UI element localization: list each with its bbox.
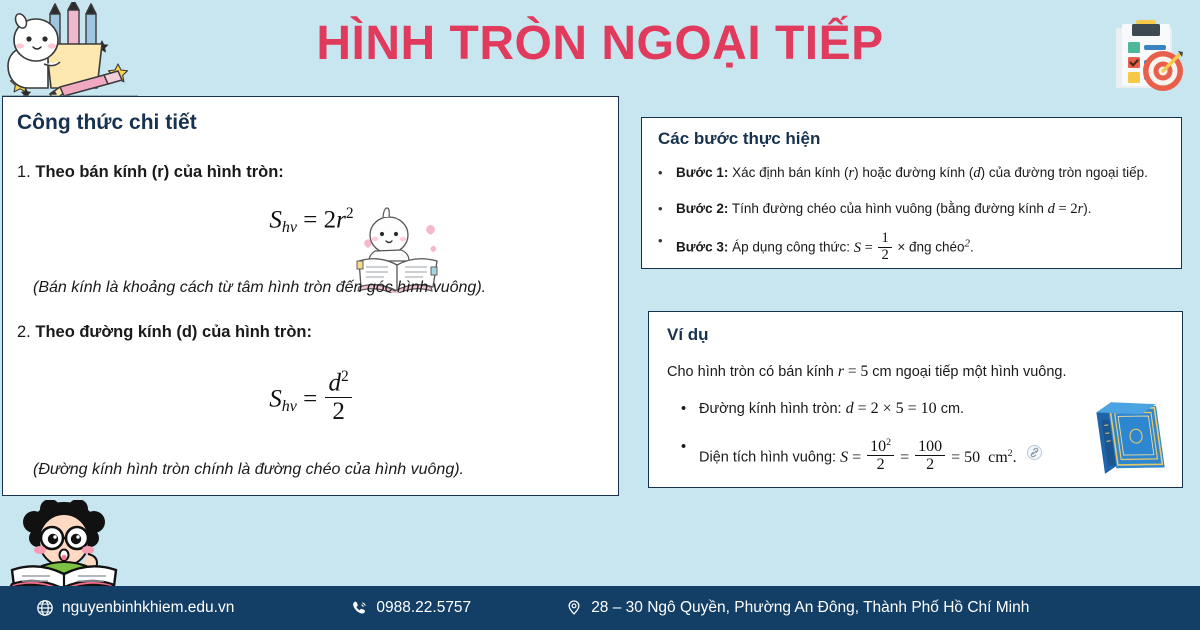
example-intro-post: ngoại tiếp một hình vuông. bbox=[892, 364, 1067, 380]
example-intro-unit: cm bbox=[872, 364, 891, 380]
clipboard-checklist-target-icon bbox=[1108, 18, 1186, 94]
example-bullet-1-unit: cm. bbox=[941, 401, 964, 417]
formula-1-radius: Shv = 2r2 bbox=[3, 205, 620, 237]
step-item-2: • Bước 2: Tính đường chéo của hình vuông… bbox=[658, 199, 1169, 219]
link-icon[interactable] bbox=[1027, 445, 1042, 460]
step-1-text-pre: Xác định bán kính ( bbox=[732, 165, 848, 180]
formula-item-2-label: Theo đường kính (d) của hình tròn: bbox=[35, 323, 312, 341]
step-item-1: • Bước 1: Xác định bán kính (r) hoặc đườ… bbox=[658, 163, 1169, 183]
formula-item-1-label: Theo bán kính (r) của hình tròn: bbox=[35, 163, 283, 181]
step-1-label: Bước 1: bbox=[676, 165, 728, 180]
phone-icon bbox=[350, 599, 368, 617]
example-intro-pre: Cho hình tròn có bán kính bbox=[667, 364, 838, 380]
step-3-text-pre: Áp dụng công thức: bbox=[732, 240, 850, 255]
step-3-math: S = 12 bbox=[854, 240, 898, 256]
footer-address: 28 – 30 Ngô Quyền, Phường An Đông, Thành… bbox=[565, 599, 1029, 617]
example-bullet-2-label: Diện tích hình vuông: bbox=[699, 450, 836, 466]
formula-note-1: (Bán kính là khoảng cách từ tâm hình trò… bbox=[33, 279, 486, 297]
formula-panel: Công thức chi tiết 1. Theo bán kính (r) … bbox=[2, 96, 619, 496]
step-1-text-mid: ) hoặc đường kính ( bbox=[854, 165, 973, 180]
globe-icon bbox=[36, 599, 54, 617]
footer-phone-text: 0988.22.5757 bbox=[376, 599, 471, 617]
example-bullet-1: • Đường kính hình tròn: d= 2 × 5 = 10 cm… bbox=[681, 400, 964, 418]
bullet-dot-icon: • bbox=[681, 439, 686, 455]
footer-website[interactable]: nguyenbinhkhiem.edu.vn bbox=[36, 599, 234, 617]
footer-bar: nguyenbinhkhiem.edu.vn 0988.22.5757 28 –… bbox=[0, 586, 1200, 630]
footer-phone[interactable]: 0988.22.5757 bbox=[350, 599, 471, 617]
step-3-text-tail: × đng chéo bbox=[897, 240, 964, 255]
step-2-label: Bước 2: bbox=[676, 201, 728, 216]
step-item-3: • Bước 3: Áp dụng công thức: S = 12 × đn… bbox=[658, 231, 1169, 263]
formula-list-item-1: 1. Theo bán kính (r) của hình tròn: bbox=[17, 163, 284, 182]
formula-item-2-number: 2. bbox=[17, 323, 31, 341]
bullet-dot-icon: • bbox=[658, 232, 663, 250]
example-bullet-1-math: d= 2 × 5 = 10 bbox=[846, 400, 937, 417]
example-bullet-2: • Diện tích hình vuông: S = 102 2 = 100 … bbox=[681, 438, 1042, 474]
formula-panel-heading: Công thức chi tiết bbox=[17, 111, 197, 135]
example-panel-heading: Ví dụ bbox=[667, 325, 709, 345]
formula-list-item-2: 2. Theo đường kính (d) của hình tròn: bbox=[17, 323, 312, 342]
step-1-text-post: ) của đường tròn ngoại tiếp. bbox=[981, 165, 1148, 180]
step-3-period: . bbox=[970, 240, 974, 255]
bullet-dot-icon: • bbox=[681, 401, 686, 417]
infographic-page: HÌNH TRÒN NGOẠI TIẾP bbox=[0, 0, 1200, 630]
steps-panel: Các bước thực hiện • Bước 1: Xác định bá… bbox=[641, 117, 1182, 269]
step-2-text-post: ). bbox=[1083, 201, 1091, 216]
step-1-var-d: d bbox=[973, 165, 980, 181]
bunny-with-pencil-cup-illustration bbox=[2, 2, 138, 98]
bullet-dot-icon: • bbox=[658, 164, 663, 182]
example-intro-math: r = 5 bbox=[838, 363, 868, 380]
step-2-text-pre: Tính đường chéo của hình vuông (bằng đườ… bbox=[732, 201, 1048, 216]
step-2-math: d = 2r bbox=[1048, 201, 1084, 217]
example-intro: Cho hình tròn có bán kính r = 5 cm ngoại… bbox=[667, 363, 1067, 381]
formula-note-2: (Đường kính hình tròn chính là đường ché… bbox=[33, 461, 464, 479]
footer-website-text: nguyenbinhkhiem.edu.vn bbox=[62, 599, 234, 617]
example-bullet-2-math: S = 102 2 = 100 2 = 50 cm2. bbox=[840, 449, 1021, 466]
location-pin-icon bbox=[565, 599, 583, 617]
footer-address-text: 28 – 30 Ngô Quyền, Phường An Đông, Thành… bbox=[591, 599, 1029, 617]
blue-hardcover-book-illustration bbox=[1084, 388, 1176, 484]
step-3-label: Bước 3: bbox=[676, 240, 728, 255]
formula-item-1-number: 1. bbox=[17, 163, 31, 181]
page-title: HÌNH TRÒN NGOẠI TIẾP bbox=[0, 14, 1200, 74]
girl-reading-book-illustration bbox=[4, 500, 124, 586]
example-bullet-1-label: Đường kính hình tròn: bbox=[699, 401, 842, 417]
steps-panel-heading: Các bước thực hiện bbox=[658, 129, 820, 149]
bullet-dot-icon: • bbox=[658, 200, 663, 218]
formula-2-diameter: Shv = d2 2 bbox=[3, 369, 620, 425]
